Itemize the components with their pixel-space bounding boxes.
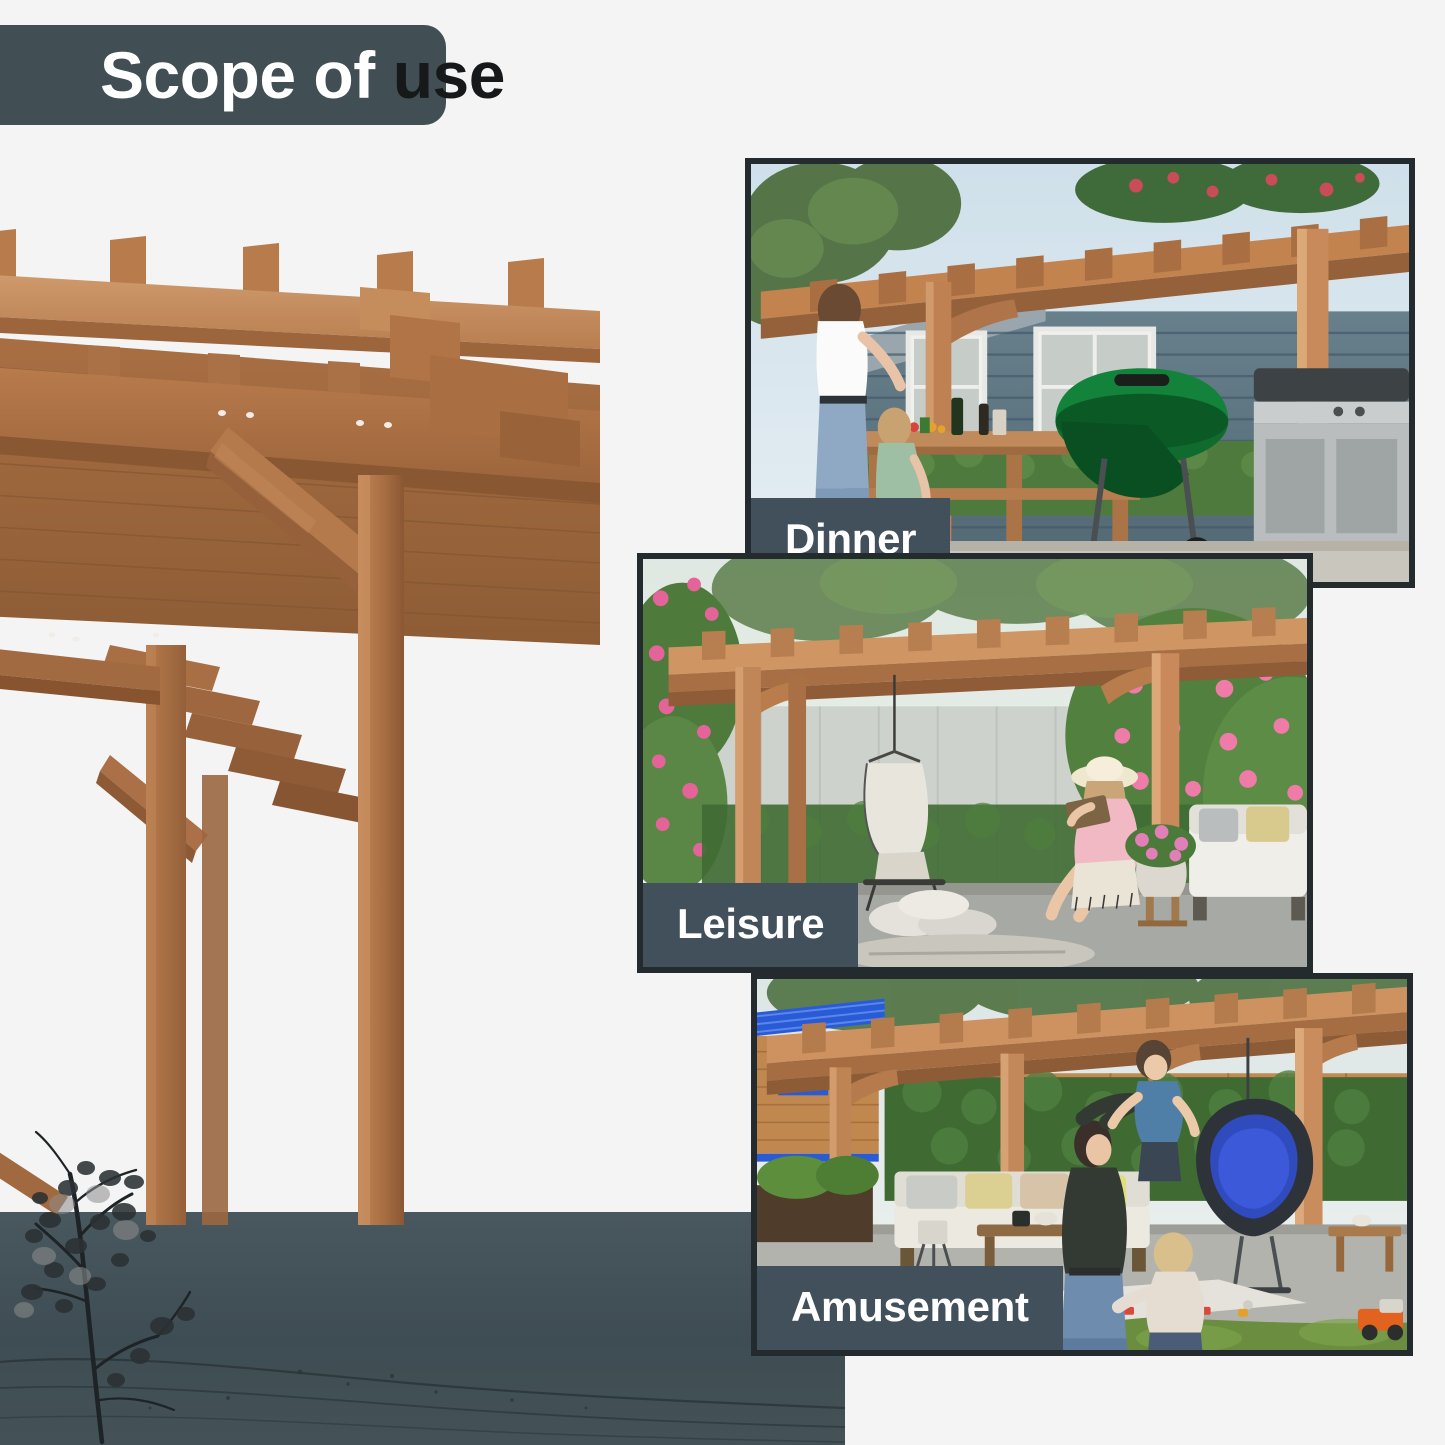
pergola-fasteners bbox=[49, 632, 160, 641]
page-title-plain: use bbox=[375, 37, 505, 113]
page-title-highlight: Scope of bbox=[0, 37, 375, 113]
page-title: Scope of use bbox=[0, 25, 505, 125]
panel-label-amusement: Amusement bbox=[757, 1266, 1063, 1350]
wine-bottle bbox=[951, 398, 963, 435]
photo-panel-leisure[interactable]: Leisure bbox=[637, 553, 1313, 973]
photo-panel-dinner[interactable]: Dinner bbox=[745, 158, 1415, 588]
photo-panel-amusement[interactable]: Amusement bbox=[751, 973, 1413, 1356]
gas-grill bbox=[1254, 368, 1409, 541]
planter-box bbox=[757, 1156, 879, 1242]
panel-label-leisure: Leisure bbox=[643, 883, 858, 967]
sketch-tree-illustration bbox=[10, 1070, 260, 1445]
